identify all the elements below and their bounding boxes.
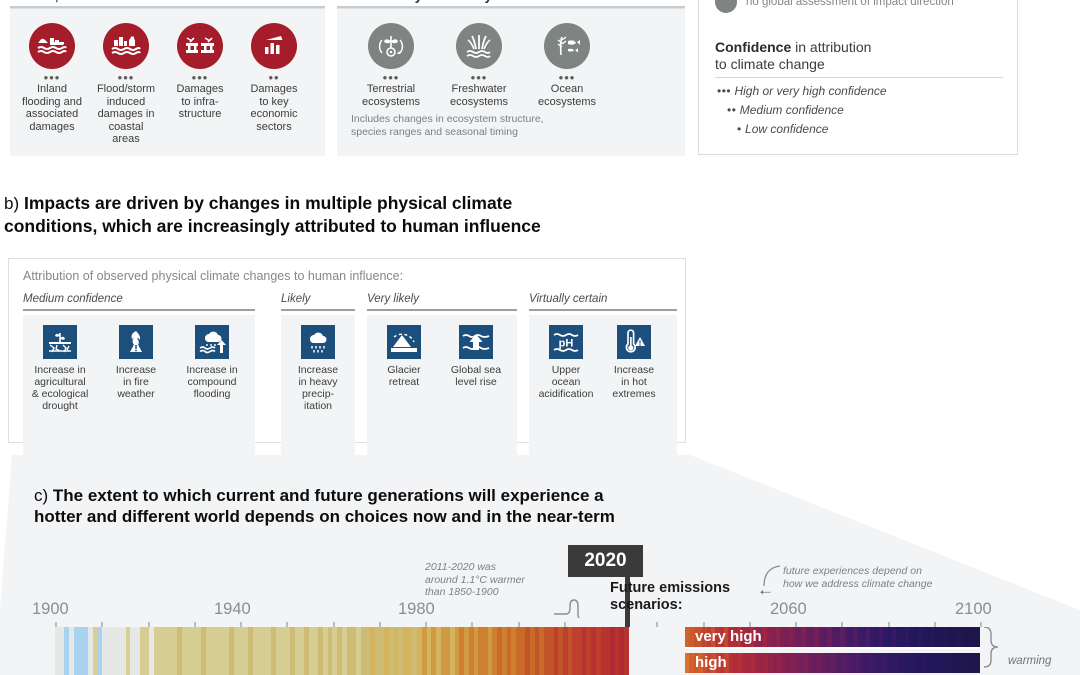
infrastructure-damage-icon <box>177 23 223 69</box>
attribution-hot-extremes[interactable]: Increase in hot extremes <box>601 325 667 400</box>
panel-b-attribution: Attribution of observed physical climate… <box>8 258 686 443</box>
ocean-ecosystem-icon <box>544 23 590 69</box>
legend-row-no-assessment: no global assessment of impact direction <box>715 0 954 13</box>
confidence-legend-title-line2: to climate change <box>715 56 825 72</box>
fire-weather-icon <box>119 325 153 359</box>
attribution-label: Increase in fire weather <box>103 364 169 400</box>
cities-icons-panel: ••• Inland flooding and associated damag… <box>10 8 325 156</box>
legend-box: no global assessment of impact direction… <box>698 0 1018 155</box>
warming-brace-icon <box>982 627 1008 675</box>
attribution-heavy-precipitation[interactable]: Increase in heavy precip- itation <box>285 325 351 412</box>
attribution-group-rule <box>281 309 355 311</box>
panel-b-subtitle: Attribution of observed physical climate… <box>23 269 403 283</box>
legend-dots-low: • <box>737 122 742 136</box>
attribution-label: Increase in compound flooding <box>179 364 245 400</box>
attribution-compound-flooding[interactable]: Increase in compound flooding <box>179 325 245 400</box>
attribution-ocean-acidification[interactable]: pH Upper ocean acidification <box>533 325 599 400</box>
category-heading-biodiversity: Biodiversity and ecosystems <box>345 0 531 3</box>
impact-coastal-flood-storm[interactable]: ••• Flood/storm induced damages in coast… <box>94 23 158 146</box>
attribution-group-rule <box>367 309 517 311</box>
attribution-group-medium-confidence: Medium confidence Increase in agricultur… <box>23 293 255 455</box>
drought-icon <box>43 325 77 359</box>
attribution-group-heading: Medium confidence <box>23 293 255 308</box>
panel-b-title-line1: Impacts are driven by changes in multipl… <box>24 193 512 213</box>
axis-year-2100: 2100 <box>955 600 992 619</box>
axis-year-2060: 2060 <box>770 600 807 619</box>
attribution-sea-level-rise[interactable]: Global sea level rise <box>443 325 509 388</box>
impact-infrastructure-damage[interactable]: ••• Damages to infra- structure <box>168 23 232 121</box>
biodiversity-icons-panel: ••• Terrestrial ecosystems ••• Freshwate… <box>337 8 685 156</box>
attribution-group-body: pH Upper ocean acidification Inc <box>529 315 677 455</box>
panel-b-title: b) Impacts are driven by changes in mult… <box>4 192 724 237</box>
terrestrial-ecosystem-icon <box>368 23 414 69</box>
attribution-group-heading: Likely <box>281 293 355 308</box>
impact-freshwater-ecosystems[interactable]: ••• Freshwater ecosystems <box>447 23 511 108</box>
panel-a-impacts: Cities, settlements and infrastructure B… <box>0 0 690 164</box>
legend-item-low: • Low confidence <box>737 122 828 136</box>
attribution-group-very-likely: Very likely Glacier retreat <box>367 293 517 455</box>
impact-terrestrial-ecosystems[interactable]: ••• Terrestrial ecosystems <box>359 23 423 108</box>
scenario-label-very-high: very high <box>695 628 762 645</box>
confidence-legend-title-rest: in attribution <box>791 39 871 55</box>
attribution-group-rule <box>529 309 677 311</box>
warming-bracket-label: warming <box>1008 655 1051 667</box>
glacier-retreat-icon <box>387 325 421 359</box>
impact-label: Terrestrial ecosystems <box>359 83 423 108</box>
freshwater-ecosystem-icon <box>456 23 502 69</box>
category-heading-cities: Cities, settlements and infrastructure <box>18 0 257 3</box>
impact-label: Damages to key economic sectors <box>242 83 306 133</box>
panel-c-title: c) The extent to which current and futur… <box>34 485 834 527</box>
no-assessment-circle-icon <box>715 0 737 13</box>
attribution-group-likely: Likely Increase in heavy precip- itation <box>281 293 355 455</box>
year-badge-2020: 2020 <box>568 545 643 577</box>
historical-stripes <box>55 627 629 675</box>
warming-stripes-chart: very high high <box>55 627 980 675</box>
confidence-legend-title: Confidence in attribution to climate cha… <box>715 39 995 73</box>
attribution-group-body: Increase in heavy precip- itation <box>281 315 355 455</box>
panel-c-title-line2: hotter and different world depends on ch… <box>34 507 615 526</box>
impact-ocean-ecosystems[interactable]: ••• Ocean ecosystems <box>535 23 599 108</box>
no-assessment-label: no global assessment of impact direction <box>746 0 954 8</box>
ecosystem-note: Includes changes in ecosystem structure,… <box>351 113 671 138</box>
axis-year-1940: 1940 <box>214 600 251 619</box>
panel-c-letter: c) <box>34 486 48 505</box>
axis-year-1900: 1900 <box>32 600 69 619</box>
axis-year-1980: 1980 <box>398 600 435 619</box>
scenario-underline-very-high <box>685 647 980 649</box>
scenario-label-high: high <box>695 654 727 671</box>
scenario-stripes-high <box>685 653 980 673</box>
legend-item-high: ••• High or very high confidence <box>717 84 887 98</box>
attribution-group-body: Increase in agricultural & ecological dr… <box>23 315 255 455</box>
hot-extremes-thermometer-icon <box>617 325 651 359</box>
timeline-axis: 1900 1940 1980 2060 2100 <box>0 600 1080 628</box>
inland-flooding-icon <box>29 23 75 69</box>
confidence-dots: ••• <box>447 74 511 82</box>
impact-inland-flooding[interactable]: ••• Inland flooding and associated damag… <box>20 23 84 133</box>
confidence-dots: ••• <box>94 74 158 82</box>
coastal-flood-storm-icon <box>103 23 149 69</box>
attribution-label: Increase in agricultural & ecological dr… <box>27 364 93 412</box>
panel-c-title-line1: The extent to which current and future g… <box>53 486 604 505</box>
impact-label: Damages to infra- structure <box>168 83 232 121</box>
legend-divider <box>715 77 1003 78</box>
attribution-glacier-retreat[interactable]: Glacier retreat <box>371 325 437 388</box>
confidence-dots: ••• <box>359 74 423 82</box>
economic-sectors-icon <box>251 23 297 69</box>
compound-flooding-icon <box>195 325 229 359</box>
impact-economic-sectors[interactable]: •• Damages to key economic sectors <box>242 23 306 133</box>
impact-label: Flood/storm induced damages in coastal a… <box>94 83 158 146</box>
attribution-label: Increase in heavy precip- itation <box>285 364 351 412</box>
legend-text-high: High or very high confidence <box>734 84 886 98</box>
attribution-label: Increase in hot extremes <box>601 364 667 400</box>
stripe <box>624 627 629 675</box>
attribution-group-heading: Very likely <box>367 293 517 308</box>
future-emissions-line1: Future emissions <box>610 580 730 596</box>
attribution-label: Global sea level rise <box>443 364 509 388</box>
svg-text:pH: pH <box>559 338 574 350</box>
confidence-dots: ••• <box>20 74 84 82</box>
attribution-group-body: Glacier retreat Global sea level rise <box>367 315 517 455</box>
attribution-group-heading: Virtually certain <box>529 293 677 308</box>
attribution-label: Upper ocean acidification <box>533 364 599 400</box>
attribution-group-rule <box>23 309 255 311</box>
stripe <box>978 627 980 647</box>
impact-label: Ocean ecosystems <box>535 83 599 108</box>
confidence-legend-title-bold: Confidence <box>715 39 791 55</box>
ocean-acidification-ph-icon: pH <box>549 325 583 359</box>
impact-label: Inland flooding and associated damages <box>20 83 84 133</box>
panel-b-title-line2: conditions, which are increasingly attri… <box>4 216 541 236</box>
legend-dots-medium: •• <box>727 103 736 117</box>
confidence-dots: ••• <box>535 74 599 82</box>
impact-label: Freshwater ecosystems <box>447 83 511 108</box>
attribution-fire-weather[interactable]: Increase in fire weather <box>103 325 169 400</box>
stripe <box>978 653 980 673</box>
sea-level-rise-icon <box>459 325 493 359</box>
attribution-group-virtually-certain: Virtually certain pH Upper ocean acidifi… <box>529 293 677 455</box>
legend-text-medium: Medium confidence <box>740 103 844 117</box>
panel-b-letter: b) <box>4 194 19 213</box>
confidence-dots: •• <box>242 74 306 82</box>
confidence-dots: ••• <box>168 74 232 82</box>
legend-item-medium: •• Medium confidence <box>727 103 844 117</box>
legend-text-low: Low confidence <box>745 122 828 136</box>
attribution-label: Glacier retreat <box>371 364 437 388</box>
attribution-drought[interactable]: Increase in agricultural & ecological dr… <box>27 325 93 412</box>
heavy-precipitation-icon <box>301 325 335 359</box>
legend-dots-high: ••• <box>717 84 731 98</box>
annotation-future-experiences: future experiences depend on how we addr… <box>783 565 1003 591</box>
